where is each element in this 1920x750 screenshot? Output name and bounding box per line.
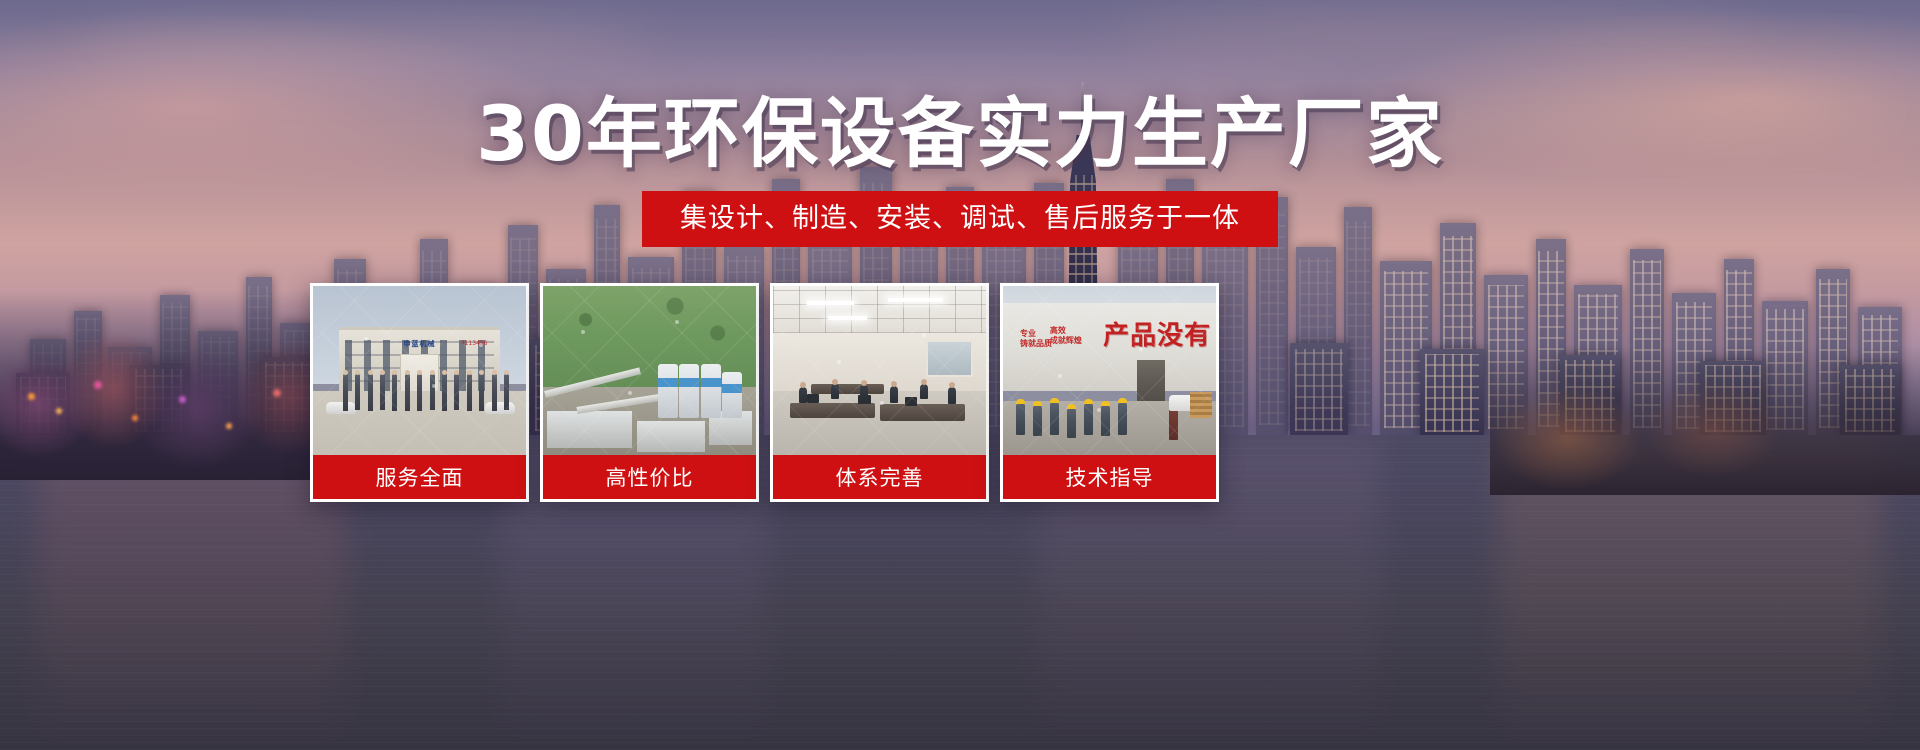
wall-slogan-small-2: 高效成就辉煌 (1050, 326, 1082, 346)
page-title: 30年环保设备实力生产厂家 (0, 96, 1920, 172)
feature-card-guidance[interactable]: 产品没有 专业铸就品质 高效成就辉煌 (1000, 283, 1219, 502)
riverbank-right (1490, 345, 1920, 495)
card-caption: 高性价比 (543, 455, 756, 499)
hero-banner: 30年环保设备实力生产厂家 集设计、制造、安装、调试、售后服务于一体 申蓝机械 … (0, 0, 1920, 750)
card-caption: 体系完善 (773, 455, 986, 499)
card-image-office-building: 申蓝机械 4113456 (313, 286, 526, 455)
subtitle-container: 集设计、制造、安装、调试、售后服务于一体 (0, 191, 1920, 247)
card-caption: 技术指导 (1003, 455, 1216, 499)
staff-lineup (343, 374, 509, 411)
wall-slogan-small-1: 专业铸就品质 (1020, 329, 1052, 349)
building-phone-text: 4113456 (461, 340, 488, 347)
building-sign-text: 申蓝机械 (404, 339, 436, 349)
card-image-aerial-plant (543, 286, 756, 455)
card-caption: 服务全面 (313, 455, 526, 499)
feature-card-value[interactable]: 高性价比 (540, 283, 759, 502)
water-reflection (38, 435, 345, 750)
subtitle-badge: 集设计、制造、安装、调试、售后服务于一体 (642, 191, 1278, 247)
feature-card-service[interactable]: 申蓝机械 4113456 (310, 283, 529, 502)
feature-card-system[interactable]: 体系完善 (770, 283, 989, 502)
feature-card-list: 申蓝机械 4113456 (310, 283, 1219, 502)
wall-slogan-large: 产品没有 (1103, 315, 1211, 352)
card-image-office-interior (773, 286, 986, 455)
card-image-factory-workers: 产品没有 专业铸就品质 高效成就辉煌 (1003, 286, 1216, 455)
